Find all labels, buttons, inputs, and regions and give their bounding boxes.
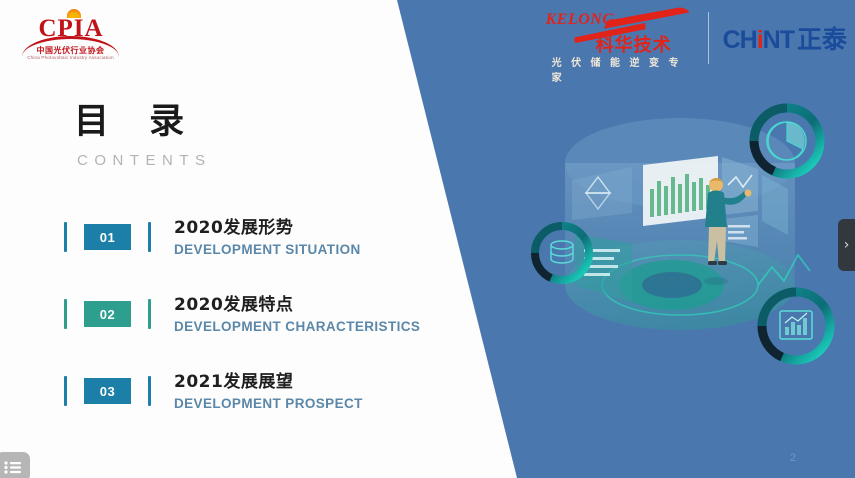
contents-list: 01 2020发展形势 DEVELOPMENT SITUATION 02 202… <box>64 208 420 439</box>
chint-name-cn: 正泰 <box>797 20 847 56</box>
partner-logos: KELONG 科华技术 光 伏 储 能 逆 变 专 家 CHiNT 正泰 <box>532 2 847 74</box>
list-lines-icon <box>4 461 22 474</box>
contents-item-text: 2020发展形势 DEVELOPMENT SITUATION <box>174 217 361 257</box>
menu-icon[interactable] <box>0 452 30 478</box>
contents-number-badge: 01 <box>84 224 131 250</box>
page-title-en: CONTENTS <box>77 152 212 169</box>
contents-item-01[interactable]: 01 2020发展形势 DEVELOPMENT SITUATION <box>64 208 420 266</box>
contents-item-title-en: DEVELOPMENT PROSPECT <box>174 396 363 411</box>
contents-number-badge: 02 <box>84 301 131 327</box>
chevron-right-icon: › <box>844 237 850 253</box>
cpia-logo: CPIA 中国光伏行业协会 China Photovoltaic Industr… <box>18 6 123 62</box>
logo-divider <box>708 12 709 64</box>
next-slide-button[interactable]: › <box>838 219 855 271</box>
bracket-right-icon <box>148 299 151 329</box>
contents-item-title-cn: 2020发展特点 <box>174 294 420 316</box>
dashboard-stage <box>565 118 795 330</box>
contents-item-02[interactable]: 02 2020发展特点 DEVELOPMENT CHARACTERISTICS <box>64 285 420 343</box>
bracket-right-icon <box>148 376 151 406</box>
contents-item-text: 2021发展展望 DEVELOPMENT PROSPECT <box>174 371 363 411</box>
contents-item-03[interactable]: 03 2021发展展望 DEVELOPMENT PROSPECT <box>64 362 420 420</box>
chint-name-en: CHiNT <box>723 26 794 55</box>
kelong-logo: KELONG 科华技术 光 伏 储 能 逆 变 专 家 <box>532 4 694 72</box>
contents-item-text: 2020发展特点 DEVELOPMENT CHARACTERISTICS <box>174 294 420 334</box>
kelong-name-en: KELONG <box>546 11 615 29</box>
document-chart-ring-icon <box>762 292 830 360</box>
kelong-tagline: 光 伏 储 能 逆 变 专 家 <box>552 54 694 84</box>
illustration-svg <box>500 85 855 405</box>
cpia-name-en: China Photovoltaic Industry Association <box>18 55 123 60</box>
data-dashboard-illustration <box>500 85 855 405</box>
bracket-left-icon <box>64 376 67 406</box>
slide-canvas: CPIA 中国光伏行业协会 China Photovoltaic Industr… <box>0 0 855 478</box>
bracket-left-icon <box>64 222 67 252</box>
kelong-swoosh-upper-icon <box>604 5 692 29</box>
bracket-left-icon <box>64 299 67 329</box>
contents-item-title-en: DEVELOPMENT SITUATION <box>174 242 361 257</box>
contents-item-title-cn: 2021发展展望 <box>174 371 363 393</box>
page-number: 2 <box>790 452 796 464</box>
contents-number-badge: 03 <box>84 378 131 404</box>
contents-item-title-cn: 2020发展形势 <box>174 217 361 239</box>
bracket-right-icon <box>148 222 151 252</box>
chint-logo: CHiNT 正泰 <box>723 20 847 56</box>
page-title-cn: 目 录 <box>74 104 212 141</box>
page-title: 目 录 CONTENTS <box>74 104 212 169</box>
contents-item-title-en: DEVELOPMENT CHARACTERISTICS <box>174 319 420 334</box>
